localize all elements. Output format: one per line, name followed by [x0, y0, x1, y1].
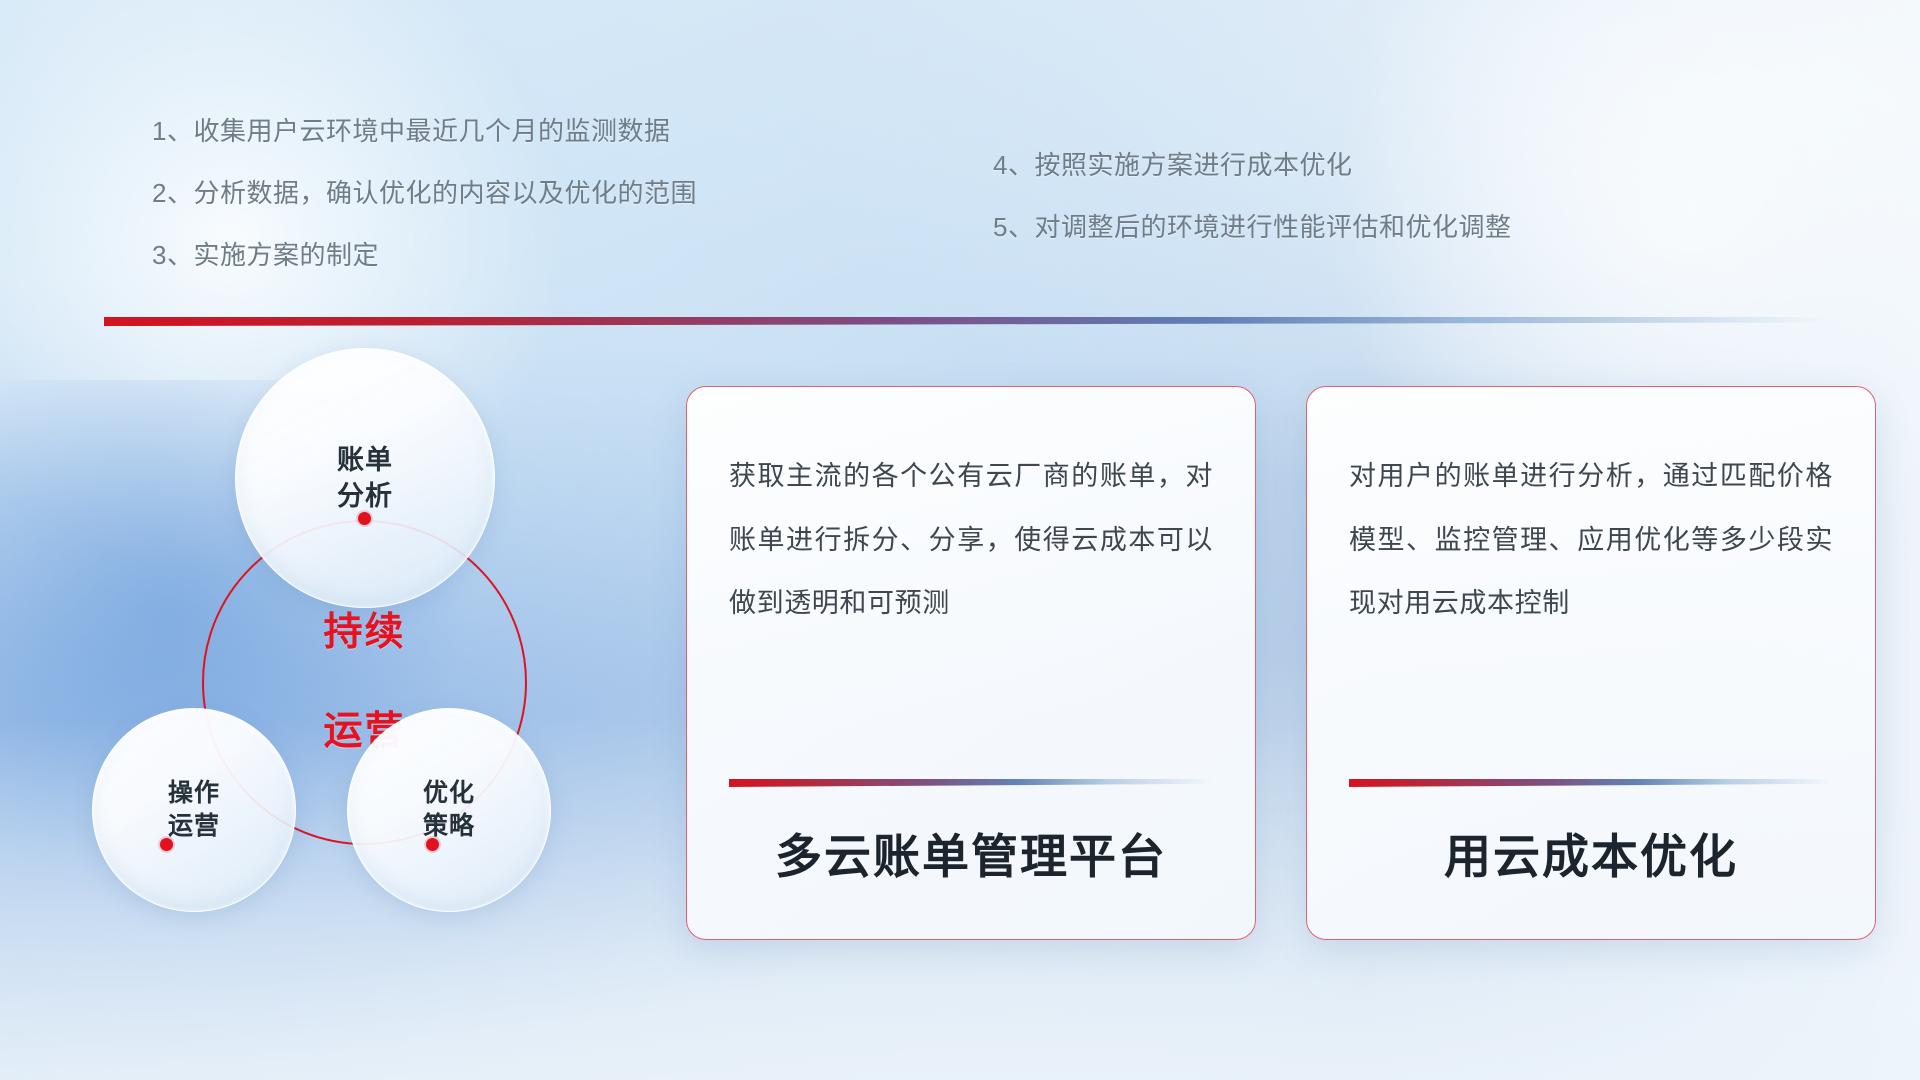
card-body-text: 对用户的账单进行分析，通过匹配价格模型、监控管理、应用优化等多少段实现对用云成本… [1349, 445, 1833, 636]
card-accent-rule [729, 779, 1213, 787]
card-multicloud-billing-platform[interactable]: 获取主流的各个公有云厂商的账单，对账单进行拆分、分享，使得云成本可以做到透明和可… [686, 386, 1256, 940]
card-body-text: 获取主流的各个公有云厂商的账单，对账单进行拆分、分享，使得云成本可以做到透明和可… [729, 445, 1213, 636]
card-cloud-cost-optimization[interactable]: 对用户的账单进行分析，通过匹配价格模型、监控管理、应用优化等多少段实现对用云成本… [1306, 386, 1876, 940]
feature-cards: 获取主流的各个公有云厂商的账单，对账单进行拆分、分享，使得云成本可以做到透明和可… [0, 0, 1920, 1080]
card-accent-rule [1349, 779, 1833, 787]
card-title: 用云成本优化 [1307, 818, 1875, 887]
card-title: 多云账单管理平台 [687, 818, 1255, 887]
